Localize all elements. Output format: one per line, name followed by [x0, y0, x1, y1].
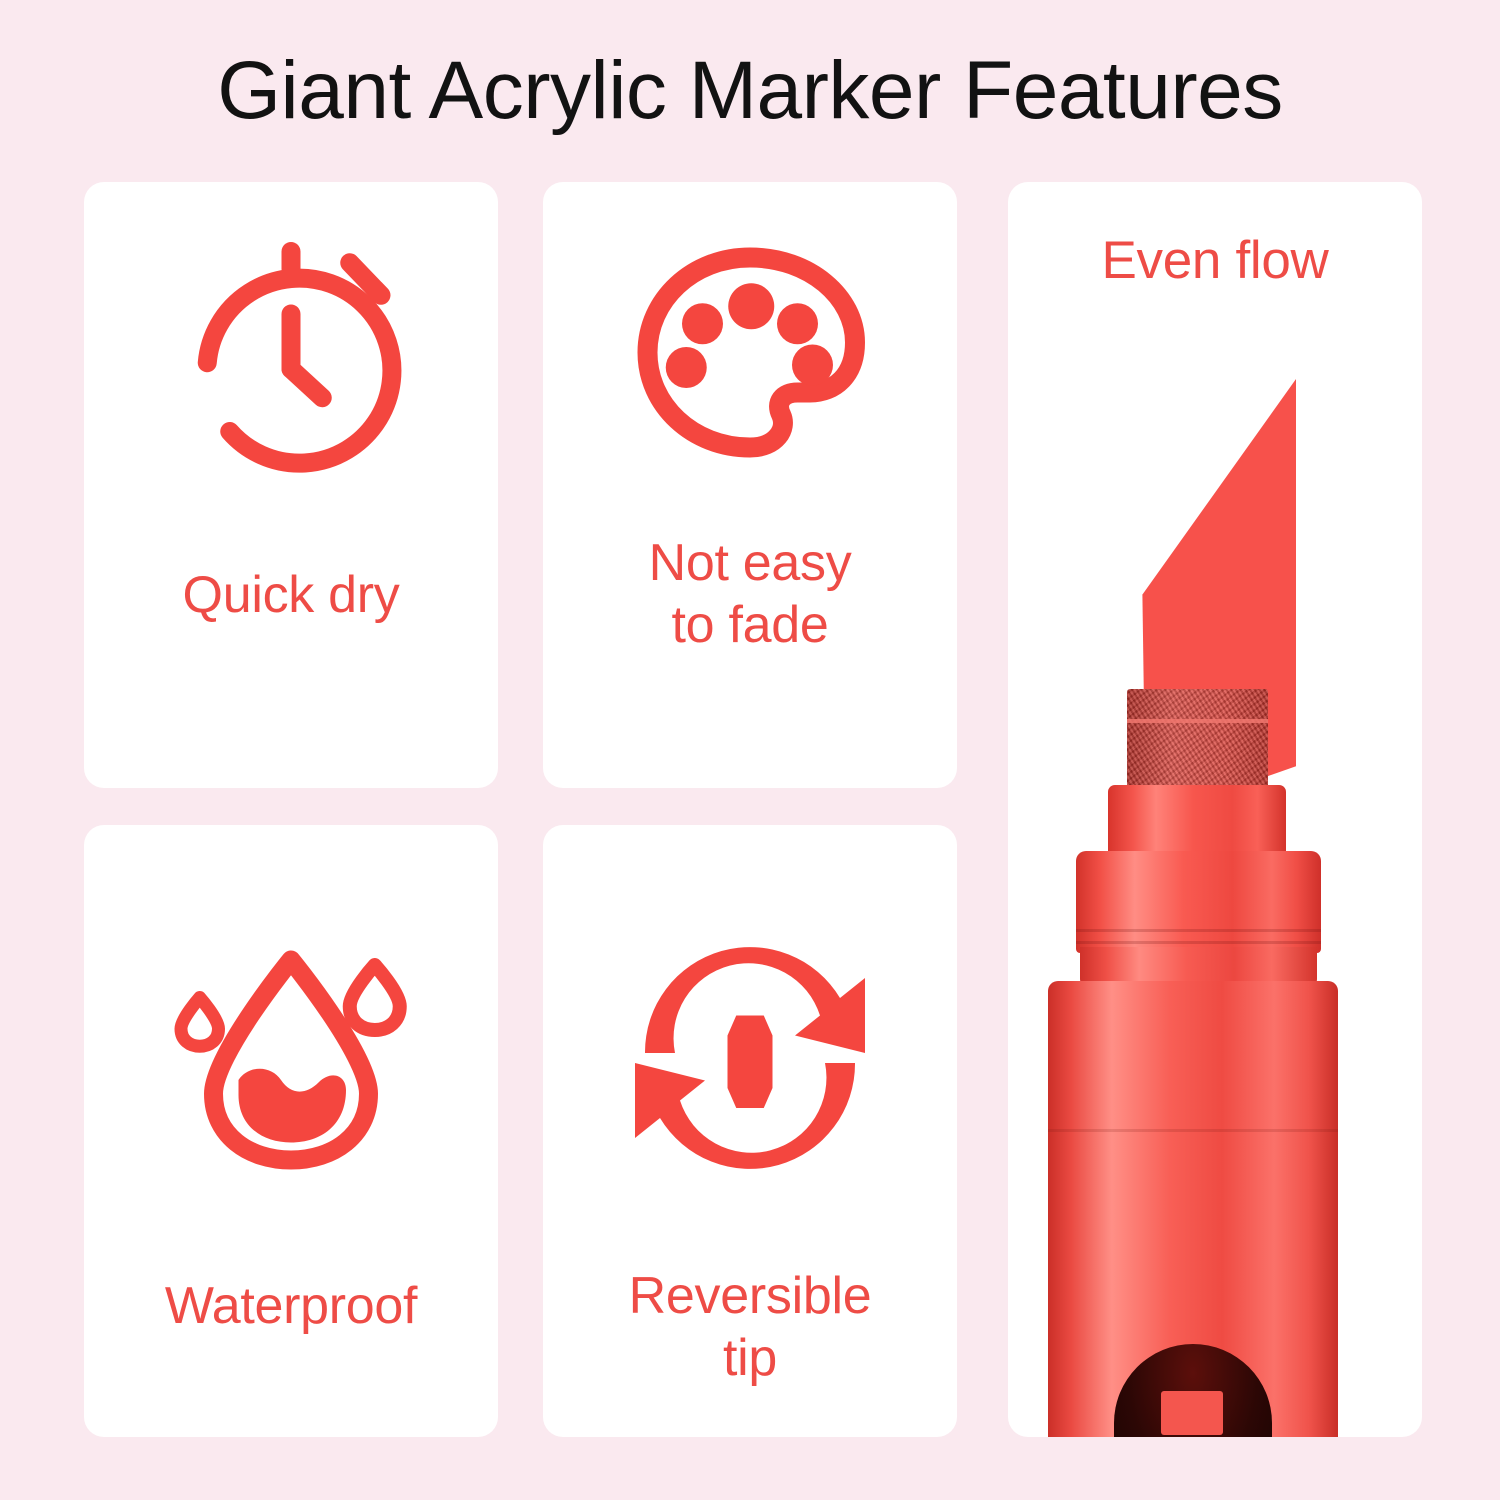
label-line: to fade	[543, 594, 957, 656]
label-line: Not easy	[543, 532, 957, 594]
marker-barrel-seam	[1048, 1129, 1338, 1132]
water-droplet-icon	[166, 930, 416, 1180]
showcase-card-even-flow[interactable]: Even flow	[1008, 182, 1422, 1437]
acrylic-marker-product-image	[1008, 689, 1422, 1437]
feature-card-waterproof[interactable]: Waterproof	[84, 825, 498, 1437]
feature-card-reversible-tip[interactable]: Reversible tip	[543, 825, 957, 1437]
label-line: Reversible	[543, 1265, 957, 1327]
marker-collar	[1076, 851, 1321, 953]
marker-nib	[1127, 689, 1268, 789]
feature-label-not-easy-to-fade: Not easy to fade	[543, 532, 957, 657]
paint-palette-icon	[625, 230, 875, 480]
feature-card-not-easy-to-fade[interactable]: Not easy to fade	[543, 182, 957, 788]
feature-label-reversible-tip: Reversible tip	[543, 1265, 957, 1390]
infographic-page: Giant Acrylic Marker Features Quick dry	[0, 0, 1500, 1500]
marker-ink-window-chip	[1161, 1391, 1223, 1435]
feature-card-quick-dry[interactable]: Quick dry	[84, 182, 498, 788]
label-line: Waterproof	[84, 1275, 498, 1337]
stopwatch-icon	[166, 224, 416, 474]
label-line: tip	[543, 1327, 957, 1389]
feature-label-quick-dry: Quick dry	[84, 564, 498, 626]
marker-nib-seam	[1127, 719, 1268, 723]
marker-collar-rib	[1076, 941, 1321, 944]
marker-collar-rib	[1076, 929, 1321, 932]
feature-label-waterproof: Waterproof	[84, 1275, 498, 1337]
page-title: Giant Acrylic Marker Features	[0, 48, 1500, 134]
label-line: Quick dry	[84, 564, 498, 626]
showcase-label-even-flow: Even flow	[1008, 230, 1422, 291]
rotation-arrows-icon	[615, 933, 885, 1183]
